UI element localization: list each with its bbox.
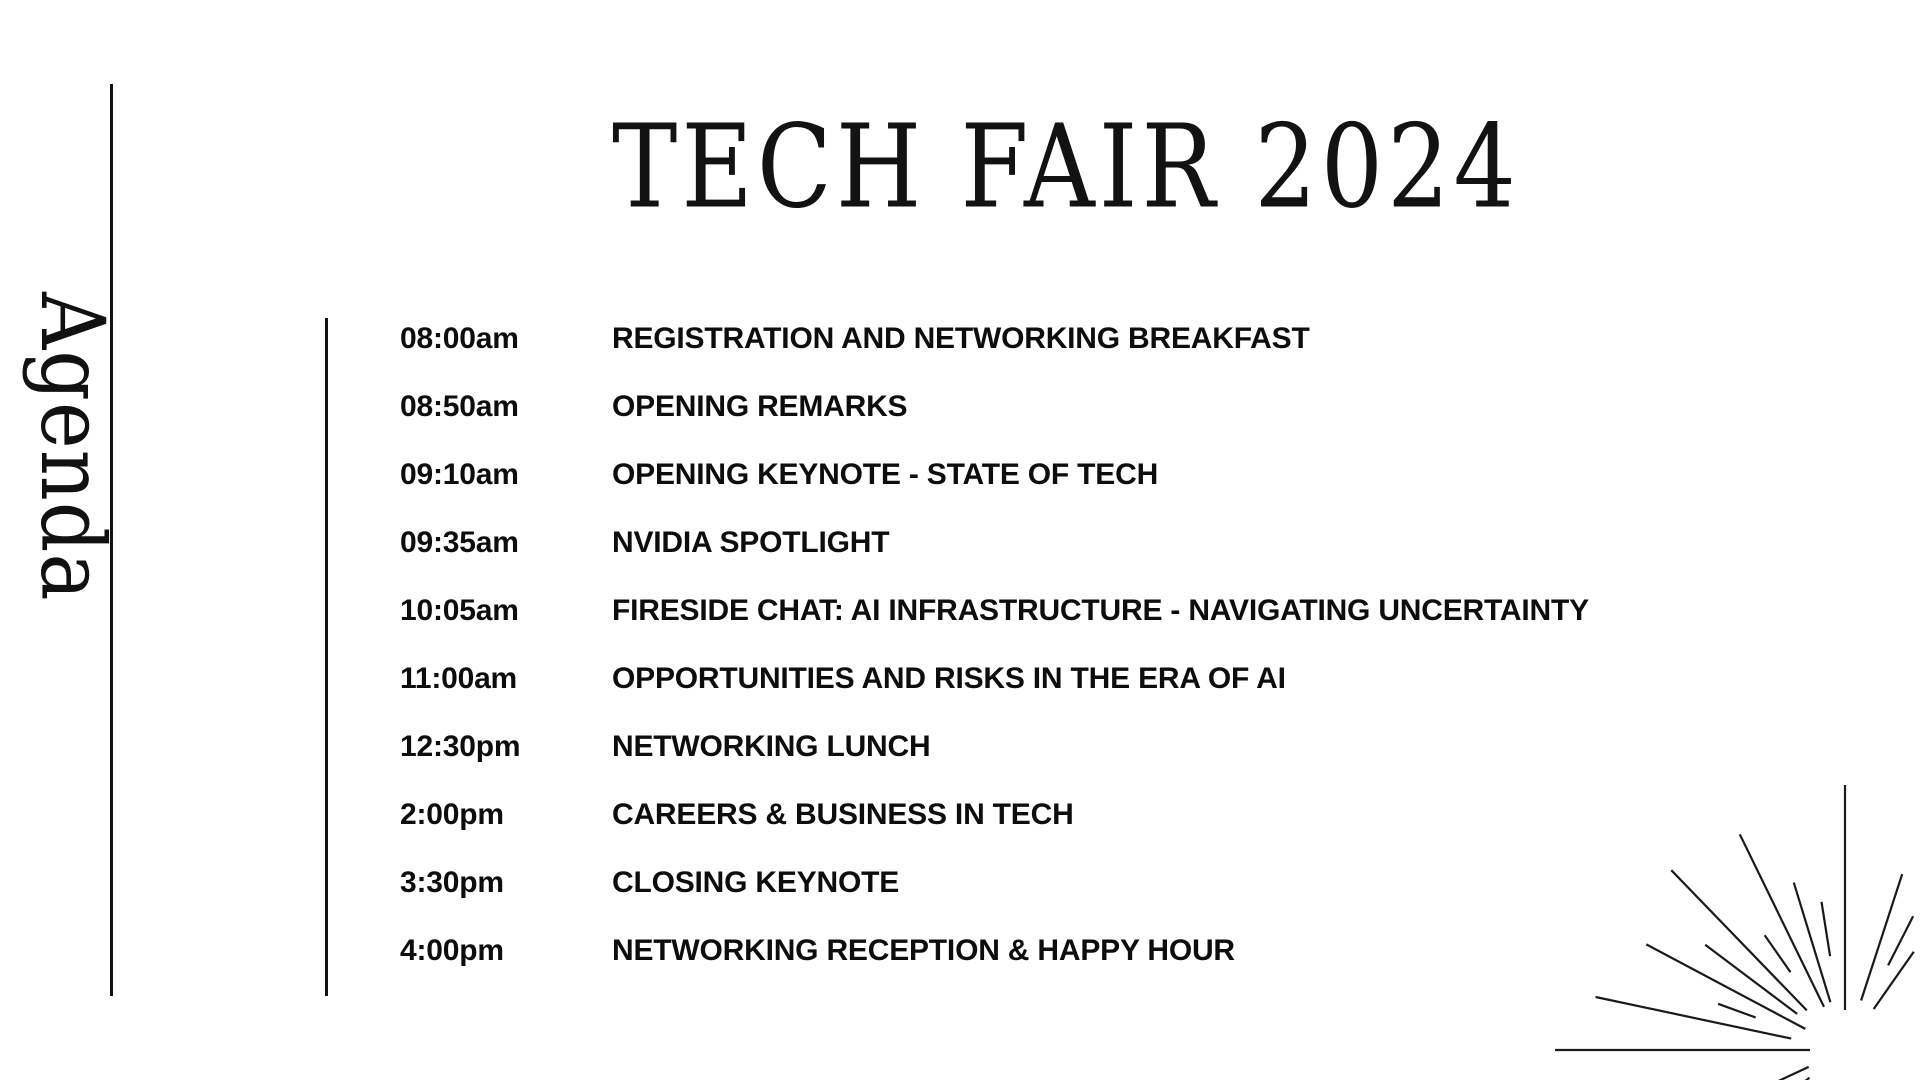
agenda-row: 4:00pmNETWORKING RECEPTION & HAPPY HOUR bbox=[400, 934, 1880, 1002]
vertical-rule-inner bbox=[325, 318, 328, 996]
agenda-row: 09:10amOPENING KEYNOTE - STATE OF TECH bbox=[400, 458, 1880, 526]
agenda-row: 09:35amNVIDIA SPOTLIGHT bbox=[400, 526, 1880, 594]
agenda-row-title: REGISTRATION AND NETWORKING BREAKFAST bbox=[612, 322, 1310, 356]
sunburst-ray bbox=[1888, 916, 1913, 965]
agenda-row-title: NETWORKING LUNCH bbox=[612, 730, 930, 764]
agenda-row-time: 3:30pm bbox=[400, 866, 612, 900]
agenda-row: 08:50amOPENING REMARKS bbox=[400, 390, 1880, 458]
agenda-row-title: OPENING KEYNOTE - STATE OF TECH bbox=[612, 458, 1158, 492]
agenda-row: 3:30pmCLOSING KEYNOTE bbox=[400, 866, 1880, 934]
agenda-row-time: 12:30pm bbox=[400, 730, 612, 764]
agenda-slide: Agenda TECH FAIR 2024 08:00amREGISTRATIO… bbox=[0, 0, 1920, 1080]
agenda-row-title: OPENING REMARKS bbox=[612, 390, 907, 424]
agenda-row: 08:00amREGISTRATION AND NETWORKING BREAK… bbox=[400, 322, 1880, 390]
agenda-row-title: NVIDIA SPOTLIGHT bbox=[612, 526, 889, 560]
agenda-row-time: 09:35am bbox=[400, 526, 612, 560]
agenda-row: 2:00pmCAREERS & BUSINESS IN TECH bbox=[400, 798, 1880, 866]
sunburst-ray bbox=[1596, 997, 1792, 1039]
agenda-row: 10:05amFIRESIDE CHAT: AI INFRASTRUCTURE … bbox=[400, 594, 1880, 662]
agenda-section-label: Agenda bbox=[26, 292, 118, 632]
sunburst-ray bbox=[1718, 1004, 1756, 1018]
agenda-row-time: 2:00pm bbox=[400, 798, 612, 832]
agenda-row: 12:30pmNETWORKING LUNCH bbox=[400, 730, 1880, 798]
agenda-row-title: OPPORTUNITIES AND RISKS IN THE ERA OF AI bbox=[612, 662, 1286, 696]
agenda-row-title: CAREERS & BUSINESS IN TECH bbox=[612, 798, 1074, 832]
agenda-row-time: 4:00pm bbox=[400, 934, 612, 968]
agenda-row-time: 08:00am bbox=[400, 322, 612, 356]
agenda-row-time: 11:00am bbox=[400, 662, 612, 696]
agenda-row-time: 08:50am bbox=[400, 390, 612, 424]
page-title: TECH FAIR 2024 bbox=[612, 106, 1520, 229]
sunburst-ray bbox=[1736, 1067, 1809, 1080]
agenda-row-title: FIRESIDE CHAT: AI INFRASTRUCTURE - NAVIG… bbox=[612, 594, 1589, 628]
agenda-row-time: 09:10am bbox=[400, 458, 612, 492]
agenda-row: 11:00amOPPORTUNITIES AND RISKS IN THE ER… bbox=[400, 662, 1880, 730]
agenda-row-time: 10:05am bbox=[400, 594, 612, 628]
agenda-row-title: NETWORKING RECEPTION & HAPPY HOUR bbox=[612, 934, 1235, 968]
agenda-list: 08:00amREGISTRATION AND NETWORKING BREAK… bbox=[400, 322, 1880, 1002]
agenda-row-title: CLOSING KEYNOTE bbox=[612, 866, 899, 900]
